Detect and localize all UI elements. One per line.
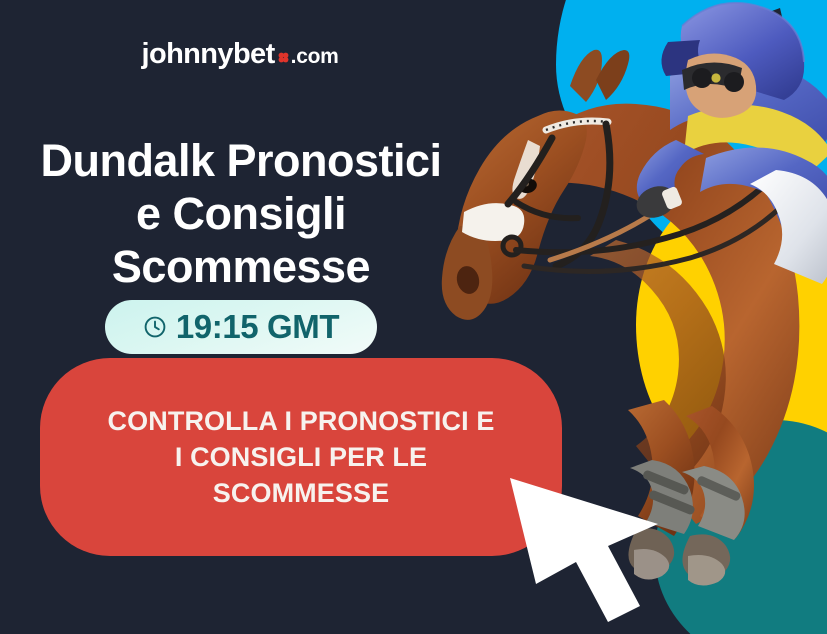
event-time-badge: 19:15 GMT bbox=[105, 300, 377, 354]
headline-line-1: Dundalk Pronostici bbox=[40, 135, 441, 186]
brand-logo[interactable]: johnnybet.com bbox=[0, 38, 480, 71]
promo-banner: johnnybet.com Dundalk Pronostici e Consi… bbox=[0, 0, 827, 634]
brand-name: johnnybet bbox=[142, 38, 275, 70]
page-title: Dundalk Pronostici e Consigli Scommesse bbox=[8, 134, 474, 293]
headline-line-3: Scommesse bbox=[112, 241, 370, 292]
teal-blob bbox=[655, 420, 827, 634]
content-column: johnnybet.com Dundalk Pronostici e Consi… bbox=[0, 0, 480, 634]
brand-tld: .com bbox=[291, 45, 339, 68]
yellow-blob bbox=[636, 180, 827, 470]
cyan-blob-secondary bbox=[620, 10, 827, 260]
headline-line-2: e Consigli bbox=[136, 188, 346, 239]
cyan-blob bbox=[556, 0, 827, 210]
clock-icon bbox=[143, 315, 167, 339]
event-time-text: 19:15 GMT bbox=[176, 310, 339, 344]
cta-button-label: CONTROLLA I PRONOSTICI E I CONSIGLI PER … bbox=[104, 403, 498, 511]
clover-icon bbox=[277, 51, 290, 64]
cta-button[interactable]: CONTROLLA I PRONOSTICI E I CONSIGLI PER … bbox=[40, 358, 562, 556]
